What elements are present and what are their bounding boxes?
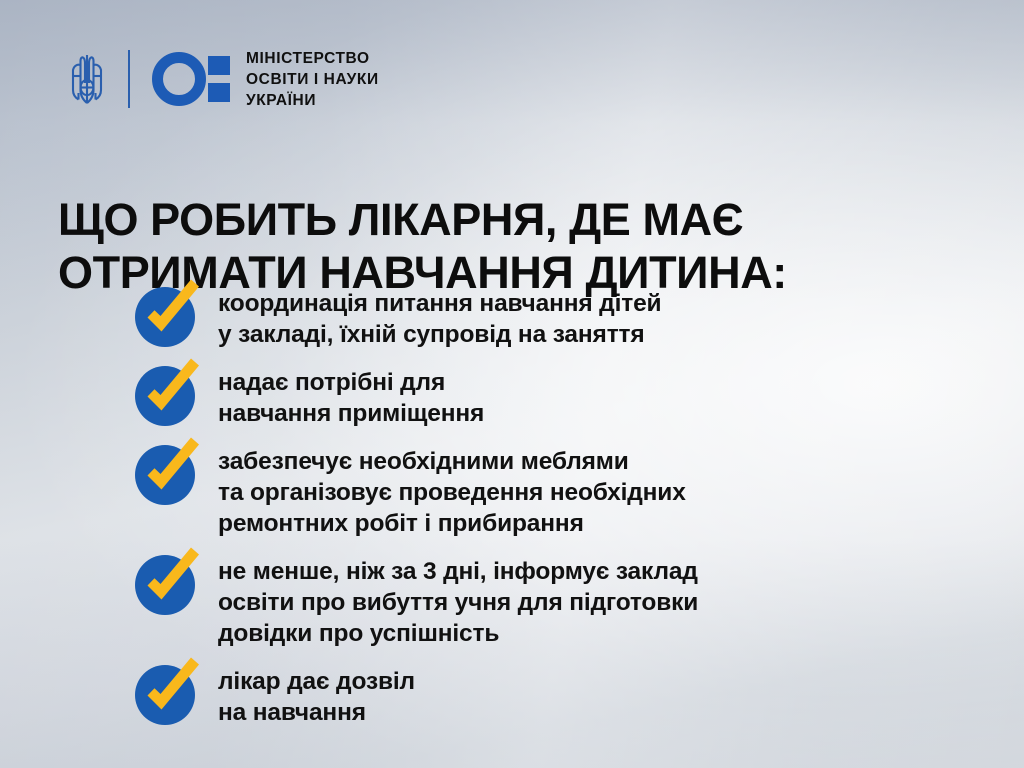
list-item-text: надає потрібні для навчання приміщення — [218, 362, 484, 429]
list-item-line: у закладі, їхній супровід на заняття — [218, 319, 661, 350]
ministry-name-line-1: МІНІСТЕРСТВО — [246, 50, 370, 67]
ukraine-trident-icon — [66, 49, 108, 109]
poster-content: МІНІСТЕРСТВО ОСВІТИ І НАУКИ УКРАЇНИ ЩО Р… — [0, 0, 1024, 768]
list-item-line: та організовує проведення необхідних — [218, 477, 686, 508]
list-item-line: забезпечує необхідними меблями — [218, 446, 686, 477]
list-item-text: забезпечує необхідними меблями та органі… — [218, 441, 686, 539]
list-item-line: надає потрібні для — [218, 367, 484, 398]
ministry-logo: МІНІСТЕРСТВО ОСВІТИ І НАУКИ УКРАЇНИ — [66, 41, 379, 117]
check-circle-icon — [134, 547, 206, 617]
infographic-poster: МІНІСТЕРСТВО ОСВІТИ І НАУКИ УКРАЇНИ ЩО Р… — [0, 0, 1024, 768]
ministry-name-line-3: УКРАЇНИ — [246, 92, 316, 109]
list-item: забезпечує необхідними меблями та органі… — [134, 441, 894, 539]
list-item: координація питання навчання дітей у зак… — [134, 283, 894, 350]
list-item: надає потрібні для навчання приміщення — [134, 362, 894, 429]
check-circle-icon — [134, 657, 206, 727]
list-item-line: ремонтних робіт і прибирання — [218, 508, 686, 539]
list-item: не менше, ніж за 3 дні, інформує заклад … — [134, 551, 894, 649]
checklist: координація питання навчання дітей у зак… — [134, 283, 894, 728]
list-item-line: координація питання навчання дітей — [218, 288, 661, 319]
check-circle-icon — [134, 358, 206, 428]
ministry-name: МІНІСТЕРСТВО ОСВІТИ І НАУКИ УКРАЇНИ — [246, 48, 379, 111]
list-item-line: освіти про вибуття учня для підготовки — [218, 587, 698, 618]
ministry-name-line-2: ОСВІТИ І НАУКИ — [246, 71, 379, 88]
list-item: лікар дає дозвіл на навчання — [134, 661, 894, 728]
check-circle-icon — [134, 279, 206, 349]
list-item-line: навчання приміщення — [218, 398, 484, 429]
check-circle-icon — [134, 437, 206, 507]
list-item-line: довідки про успішність — [218, 618, 698, 649]
page-title-line-1: ЩО РОБИТЬ ЛІКАРНЯ, ДЕ МАЄ — [58, 193, 888, 246]
list-item-line: не менше, ніж за 3 дні, інформує заклад — [218, 556, 698, 587]
list-item-line: на навчання — [218, 697, 415, 728]
list-item-text: не менше, ніж за 3 дні, інформує заклад … — [218, 551, 698, 649]
mon-circle-squares-icon — [152, 51, 230, 107]
list-item-line: лікар дає дозвіл — [218, 666, 415, 697]
logo-divider — [128, 50, 130, 108]
list-item-text: координація питання навчання дітей у зак… — [218, 283, 661, 350]
list-item-text: лікар дає дозвіл на навчання — [218, 661, 415, 728]
